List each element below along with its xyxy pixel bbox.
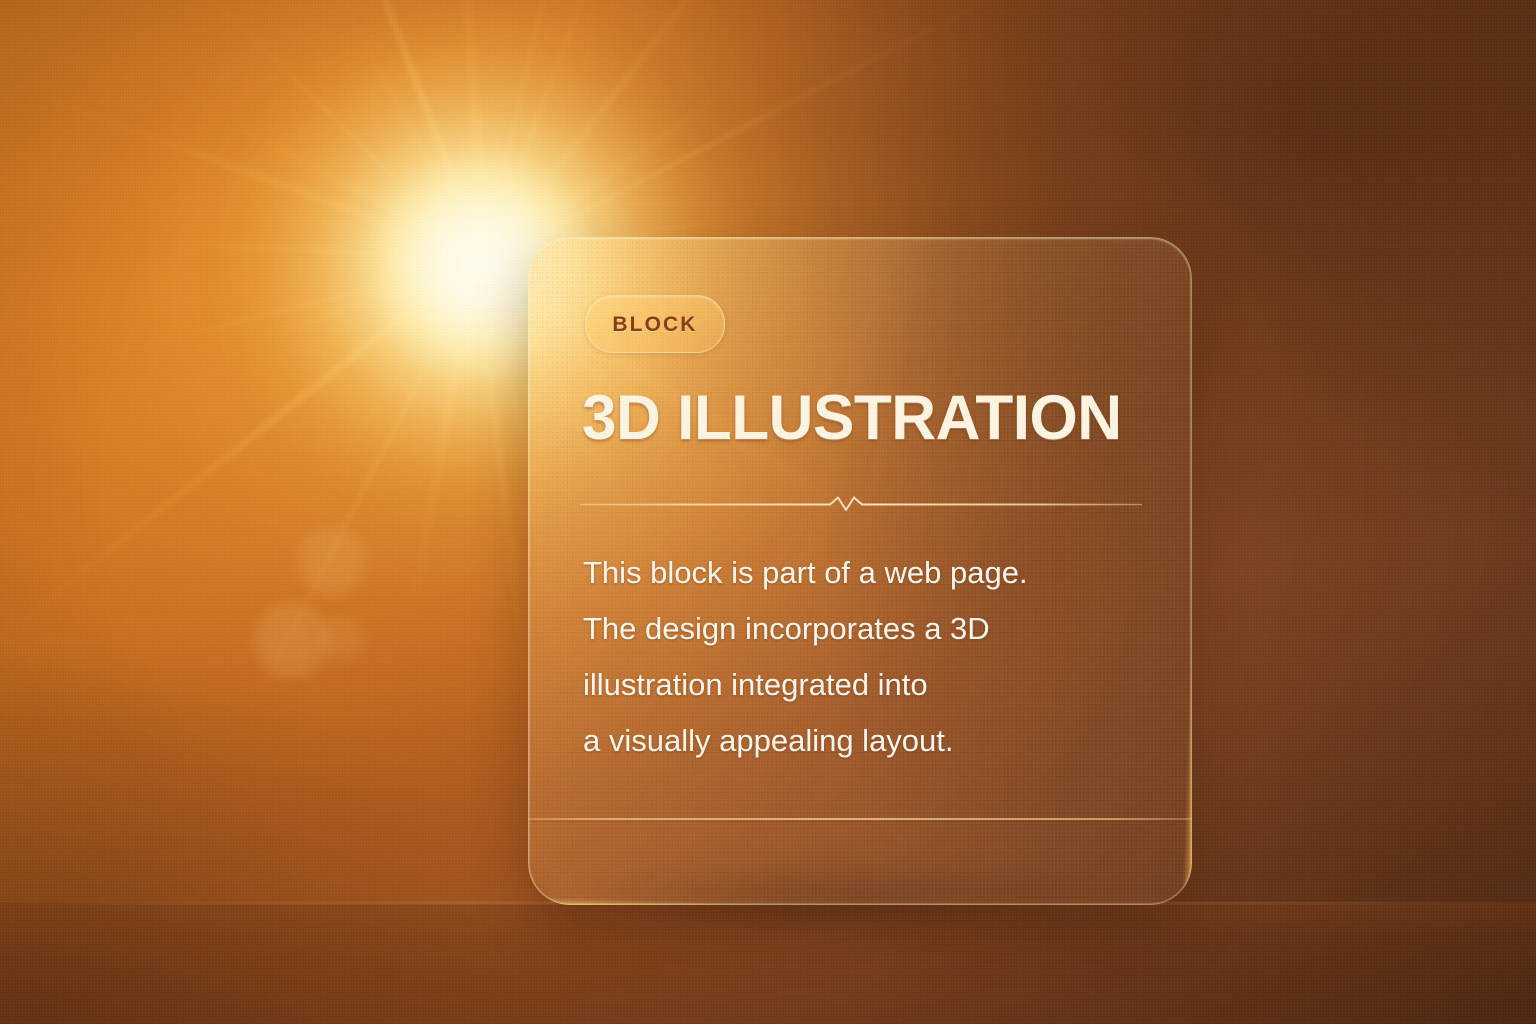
scene-root: BLOCK 3D ILLUSTRATION <box>0 0 1536 1024</box>
zigzag-divider <box>580 491 1142 517</box>
card-content: BLOCK 3D ILLUSTRATION <box>528 237 1192 905</box>
card-footer-divider <box>528 818 1192 820</box>
block-badge-label: BLOCK <box>612 314 697 335</box>
bokeh-circle <box>316 612 368 664</box>
paragraph-line: illustration integrated into <box>583 657 1153 713</box>
card-footer-divider-shadow <box>528 821 1192 822</box>
bokeh-circle <box>294 524 370 600</box>
paragraph-line: a visually appealing layout. <box>583 713 1153 769</box>
glass-card[interactable]: BLOCK 3D ILLUSTRATION <box>528 237 1192 905</box>
paragraph-line: This block is part of a web page. <box>583 545 1153 601</box>
card-paragraph: This block is part of a web page. The de… <box>583 545 1153 769</box>
block-badge[interactable]: BLOCK <box>585 295 725 353</box>
paragraph-line: The design incorporates a 3D <box>583 601 1153 657</box>
card-title: 3D ILLUSTRATION <box>582 387 1153 450</box>
